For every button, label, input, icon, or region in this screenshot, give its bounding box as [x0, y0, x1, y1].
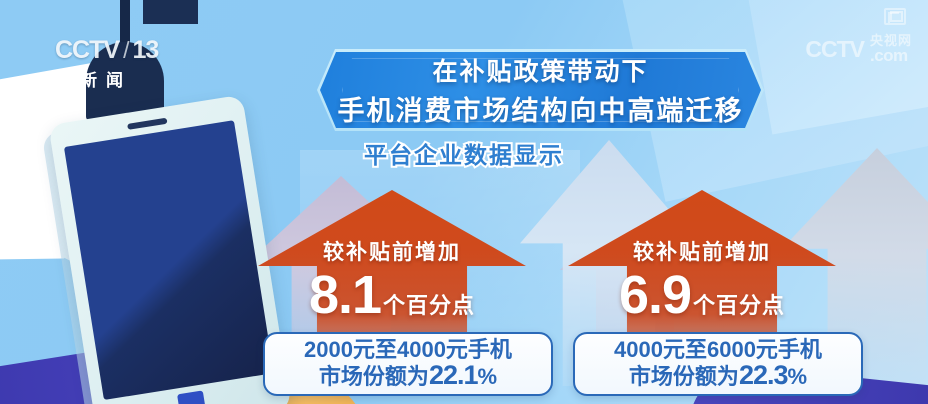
watermark-cn-text: 央视网	[870, 34, 912, 47]
channel-name-label: 新闻	[80, 66, 132, 91]
stat-label-right: 较补贴前增加	[633, 236, 771, 266]
watermark-com-text: .com	[870, 47, 912, 64]
channel-logo-number: 13	[132, 36, 158, 65]
stat-label-left: 较补贴前增加	[323, 236, 461, 266]
caption-left-value: 22.1	[429, 361, 478, 390]
caption-left-percent: %	[478, 365, 498, 389]
caption-left-prefix: 市场份额为	[319, 365, 429, 389]
channel-logo-slash: /	[123, 37, 128, 64]
cctv-com-watermark: CCTV 央视网 .com	[805, 34, 912, 65]
caption-right-value: 22.3	[739, 361, 788, 390]
stat-value-row-left: 8.1 个百分点	[309, 268, 475, 322]
caption-left-line-1: 2000元至4000元手机	[304, 338, 512, 362]
caption-pill-left: 2000元至4000元手机 市场份额为 22.1 %	[263, 332, 553, 396]
watermark-stack: 央视网 .com	[870, 34, 912, 65]
caption-right-prefix: 市场份额为	[629, 365, 739, 389]
subtitle-text: 平台企业数据显示	[0, 136, 928, 170]
caption-right-percent: %	[788, 365, 808, 389]
stat-unit-right: 个百分点	[693, 288, 785, 320]
broadcast-graphic: CCTV / 13 新闻 CCTV 央视网 .com 在补贴政策带动下 手机消费…	[0, 0, 928, 404]
stat-content-right: 较补贴前增加 6.9 个百分点	[568, 236, 836, 322]
channel-logo: CCTV / 13	[55, 36, 158, 65]
picture-in-picture-icon	[884, 8, 906, 25]
title-line-1: 在补贴政策带动下	[432, 52, 648, 88]
watermark-cctv-text: CCTV	[805, 36, 864, 63]
caption-left-line-2: 市场份额为 22.1 %	[319, 361, 497, 390]
stat-number-left: 8.1	[309, 268, 381, 322]
title-banner: 在补贴政策带动下 手机消费市场结构向中高端迁移	[317, 49, 764, 131]
channel-logo-text: CCTV	[55, 36, 119, 65]
stat-number-right: 6.9	[619, 268, 691, 322]
caption-right-line-2: 市场份额为 22.3 %	[629, 361, 807, 390]
title-line-2: 手机消费市场结构向中高端迁移	[338, 89, 744, 128]
stat-content-left: 较补贴前增加 8.1 个百分点	[258, 236, 526, 322]
phone-home-button	[177, 390, 206, 404]
background-navy-block	[143, 0, 198, 24]
caption-right-line-1: 4000元至6000元手机	[614, 338, 822, 362]
caption-pill-right: 4000元至6000元手机 市场份额为 22.3 %	[573, 332, 863, 396]
stat-value-row-right: 6.9 个百分点	[619, 268, 785, 322]
stat-unit-left: 个百分点	[383, 288, 475, 320]
title-banner-inner: 在补贴政策带动下 手机消费市场结构向中高端迁移	[320, 52, 761, 128]
phone-speaker-icon	[127, 118, 167, 130]
